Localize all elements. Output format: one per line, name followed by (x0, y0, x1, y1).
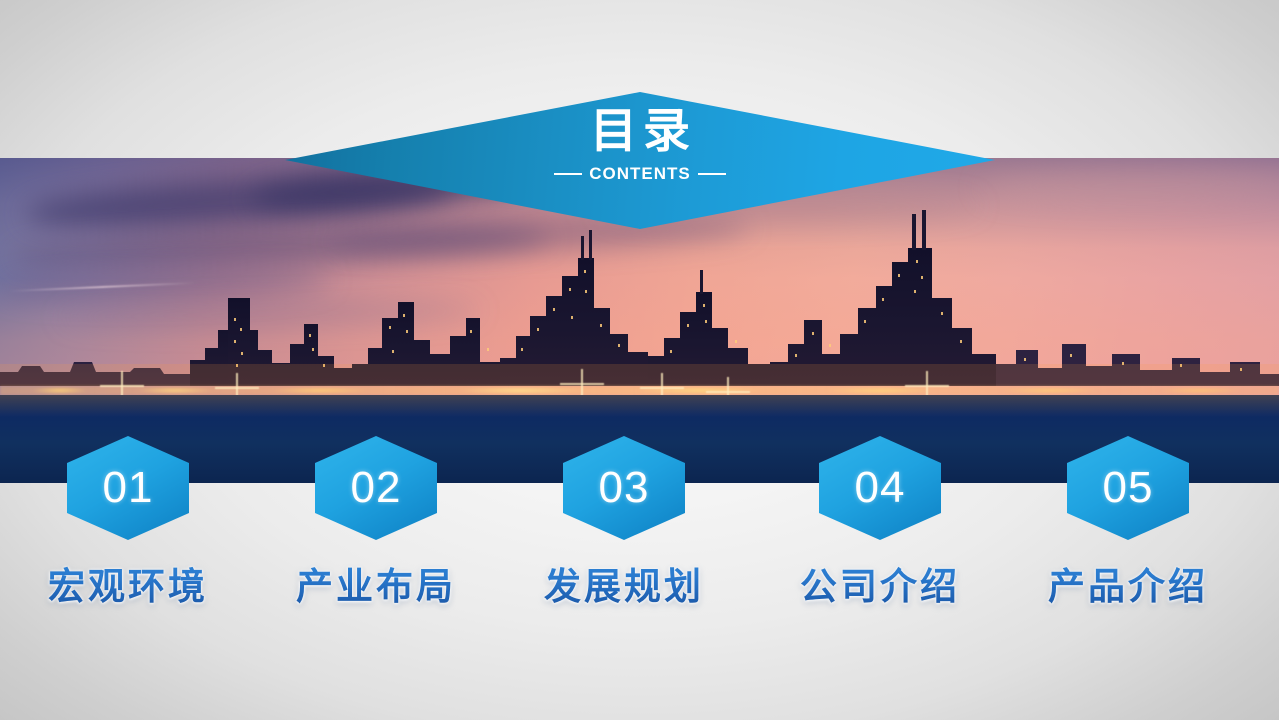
water-reflection-glow (0, 395, 1279, 417)
toc-label-1[interactable]: 宏观环境 (3, 556, 253, 610)
page-subtitle: CONTENTS (589, 164, 691, 184)
rule-left (554, 173, 582, 175)
rule-right (698, 173, 726, 175)
toc-number-3: 03 (599, 466, 650, 510)
toc-number-2: 02 (351, 466, 402, 510)
title-block: 目录 CONTENTS (285, 92, 995, 229)
subtitle-row: CONTENTS (554, 164, 726, 184)
toc-label-5[interactable]: 产品介绍 (1003, 556, 1253, 610)
page-title: 目录 (584, 107, 696, 156)
presentation-slide: 目录 CONTENTS 01 02 03 04 05 宏观环境 产业布局 发展规… (0, 0, 1279, 720)
toc-number-1: 01 (103, 466, 154, 510)
toc-label-3[interactable]: 发展规划 (499, 556, 749, 610)
toc-number-5: 05 (1103, 466, 1154, 510)
toc-label-2[interactable]: 产业布局 (251, 556, 501, 610)
toc-number-4: 04 (855, 466, 906, 510)
toc-label-4[interactable]: 公司介绍 (755, 556, 1005, 610)
waterfront-light-strip (0, 386, 1279, 395)
